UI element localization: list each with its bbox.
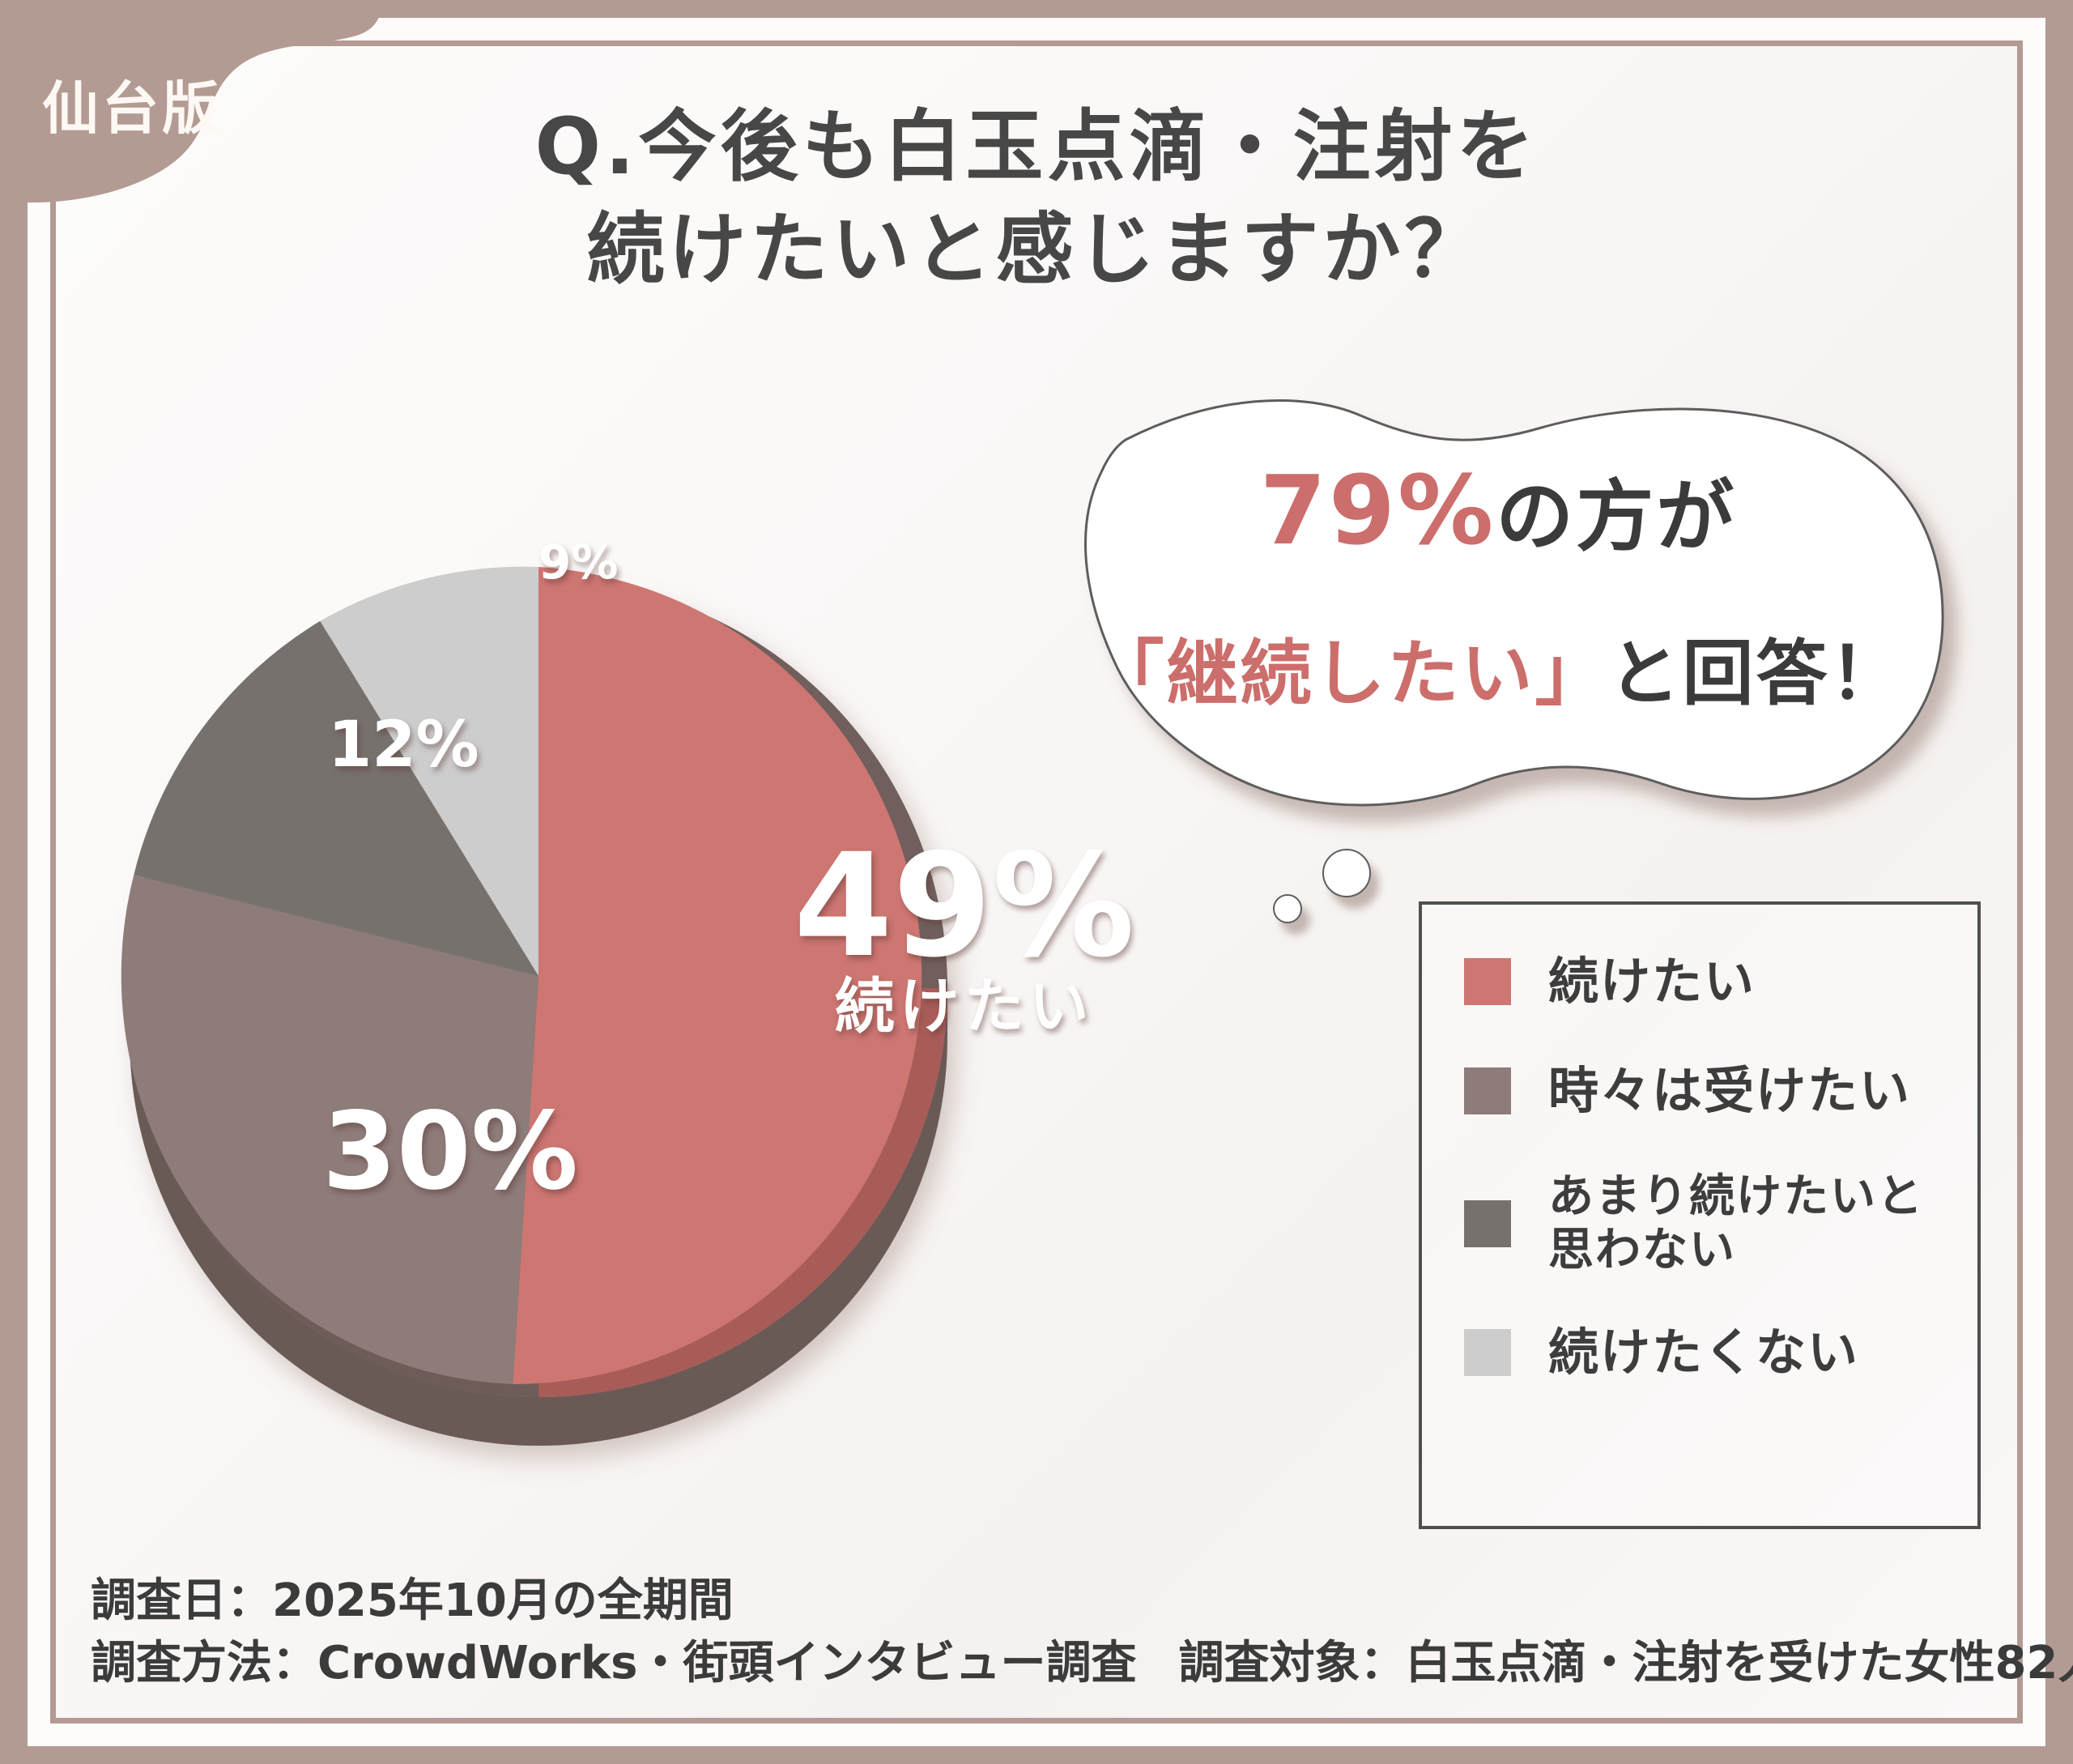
pie-chart xyxy=(97,421,1101,1506)
callout-bubble xyxy=(1012,369,1984,822)
legend-label-tsuzuketakunai: 続けたくない xyxy=(1548,1323,1859,1382)
legend-item-tsuzuketakunai[interactable]: 続けたくない xyxy=(1464,1323,1977,1382)
legend-label-tokidoki: 時々は受けたい xyxy=(1548,1061,1911,1120)
legend-label-tsuzuketai: 続けたい xyxy=(1548,952,1756,1011)
pie-slices xyxy=(121,567,922,1384)
legend-item-tokidoki[interactable]: 時々は受けたい xyxy=(1464,1061,1977,1120)
footnote-survey-date: 調査日：2025年10月の全期間 xyxy=(91,1570,1986,1632)
legend-swatch-tsuzuketakunai xyxy=(1464,1329,1511,1376)
title-line-1: Q.今後も白玉点滴・注射を xyxy=(50,96,2023,198)
callout-tail-dot-large xyxy=(1322,849,1371,897)
callout-tail-dot-small xyxy=(1273,894,1302,923)
legend-swatch-tsuzuketai xyxy=(1464,958,1511,1005)
page-title: Q.今後も白玉点滴・注射を 続けたいと感じますか？ xyxy=(50,96,2023,300)
footnote-survey-method: 調査方法：CrowdWorks・街頭インタビュー調査 xyxy=(91,1637,1136,1689)
survey-footnote: 調査日：2025年10月の全期間 調査方法：CrowdWorks・街頭インタビュ… xyxy=(91,1570,1986,1695)
legend-swatch-amari xyxy=(1464,1200,1511,1247)
infographic-page: 仙台版 Q.今後も白玉点滴・注射を 続けたいと感じますか？ xyxy=(0,0,2073,1764)
title-line-2: 続けたいと感じますか？ xyxy=(50,198,2023,301)
legend-label-amari-line-2: 思わない xyxy=(1548,1224,1924,1277)
legend-item-tsuzuketai[interactable]: 続けたい xyxy=(1464,952,1977,1011)
footnote-survey-method-row: 調査方法：CrowdWorks・街頭インタビュー調査調査対象：白玉点滴・注射を受… xyxy=(91,1632,1986,1694)
legend-label-amari-line-1: あまり続けたいと xyxy=(1548,1170,1924,1224)
region-badge-label: 仙台版 xyxy=(42,63,222,145)
legend-item-amari[interactable]: あまり続けたいと 思わない xyxy=(1464,1170,1977,1277)
chart-legend: 続けたい 時々は受けたい あまり続けたいと 思わない 続けたくない xyxy=(1419,901,1981,1529)
legend-label-amari: あまり続けたいと 思わない xyxy=(1548,1170,1924,1277)
legend-swatch-tokidoki xyxy=(1464,1067,1511,1114)
footnote-survey-target: 調査対象：白玉点滴・注射を受けた女性82人 xyxy=(1178,1637,2073,1689)
